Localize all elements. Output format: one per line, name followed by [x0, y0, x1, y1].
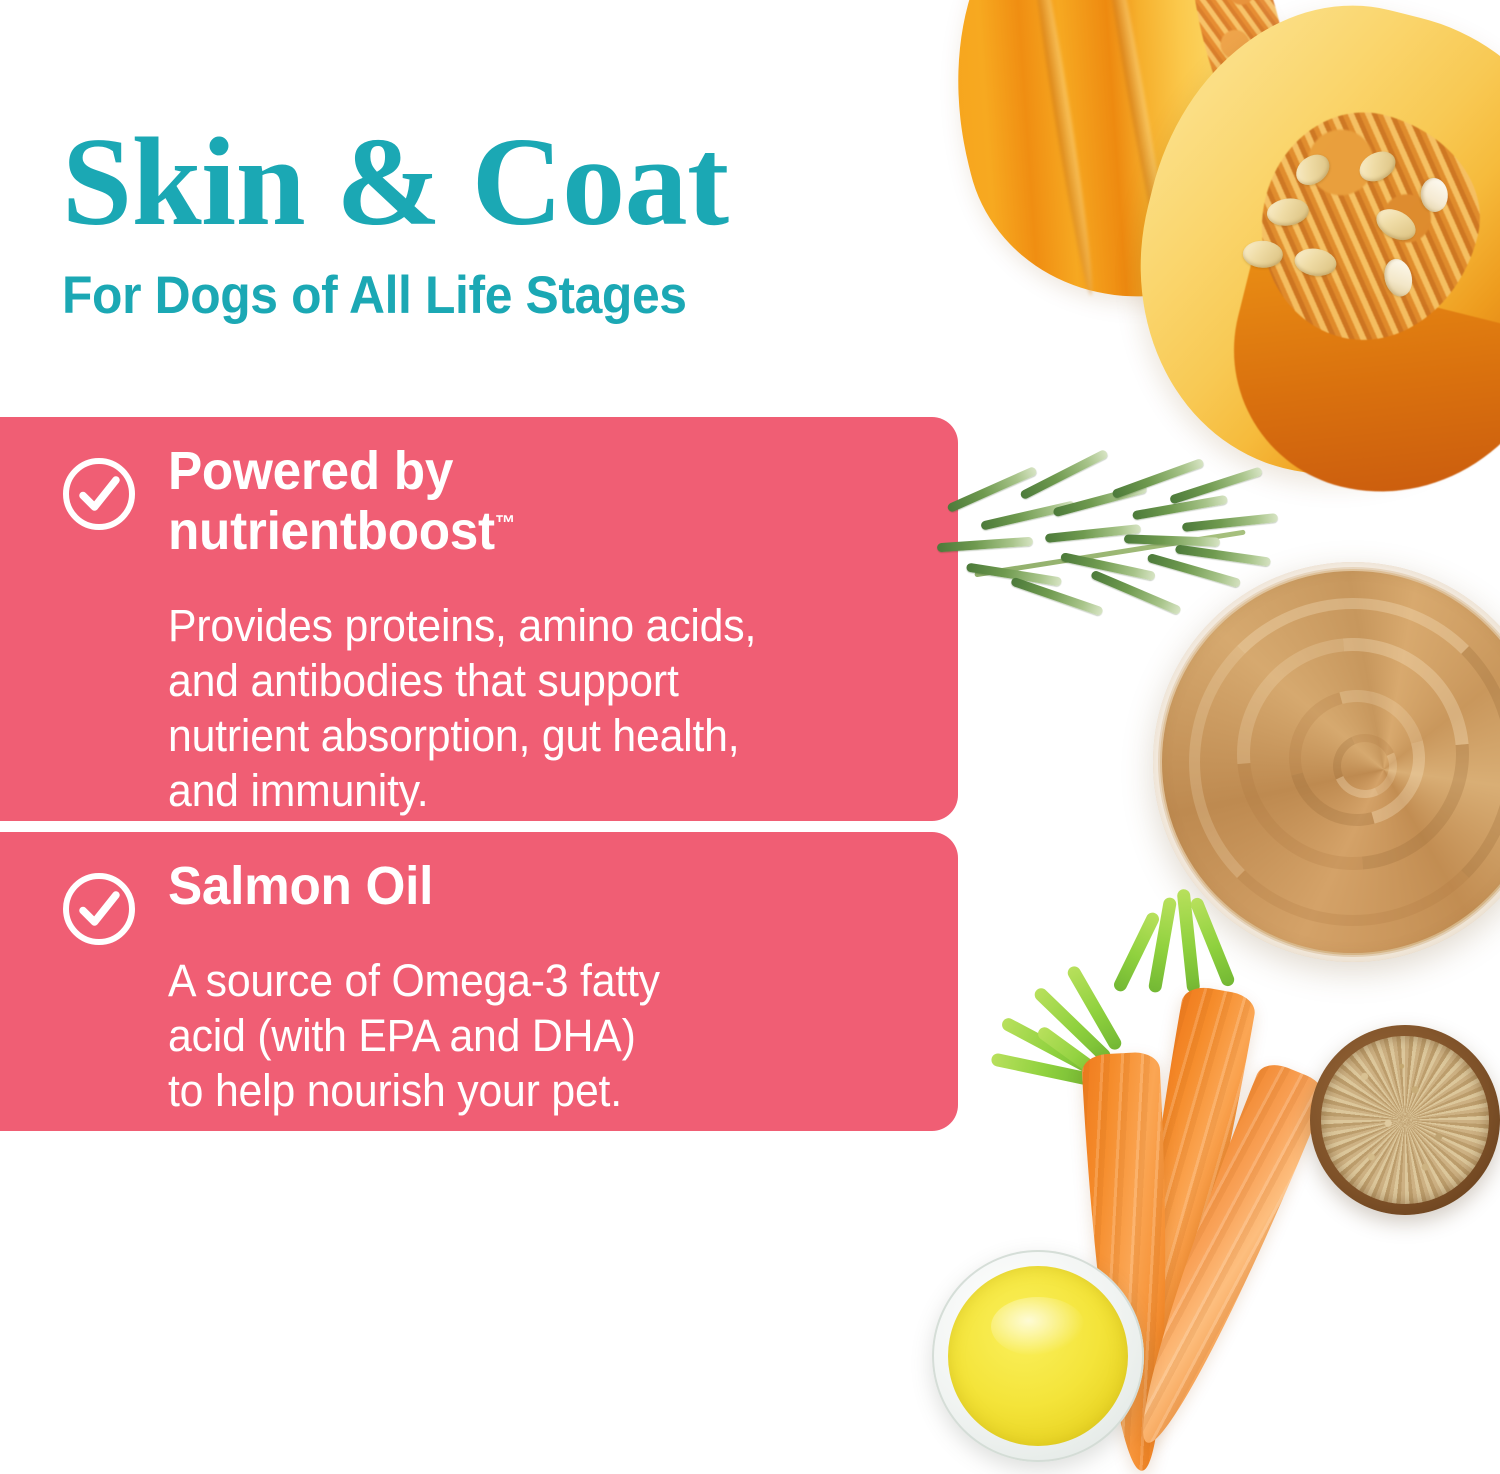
- rosemary-needle: [1182, 513, 1278, 532]
- benefit-heading-line1: Salmon Oil: [168, 856, 433, 916]
- oil-liquid: [948, 1266, 1128, 1446]
- carrot-stalk: [1148, 897, 1177, 994]
- oil-highlight: [991, 1297, 1084, 1356]
- oil-bowl-image: [932, 1250, 1144, 1462]
- heading-block: Skin & Coat For Dogs of All Life Stages: [62, 120, 962, 324]
- page-title: Skin & Coat: [62, 120, 962, 246]
- benefit-panel-content: Salmon Oil A source of Omega-3 fatty aci…: [60, 832, 928, 1131]
- check-circle-icon: [60, 870, 138, 948]
- rosemary-needle: [937, 537, 1033, 553]
- wooden-bowl-ground-meal-image: [1310, 1025, 1500, 1215]
- benefit-body-text: Provides proteins, amino acids, and anti…: [168, 599, 756, 819]
- check-circle-icon: [60, 455, 138, 533]
- benefit-heading-line2: nutrientboost: [168, 501, 495, 561]
- benefit-heading: Powered by nutrientboost™: [168, 441, 515, 562]
- benefit-heading-line1: Powered by: [168, 441, 453, 501]
- ground-meal-powder: [1321, 1036, 1489, 1204]
- product-feature-graphic: Skin & Coat For Dogs of All Life Stages …: [0, 0, 1500, 1474]
- page-subtitle: For Dogs of All Life Stages: [62, 268, 908, 324]
- benefit-panel-content: Powered by nutrientboost™ Provides prote…: [60, 417, 928, 821]
- benefit-body-text: A source of Omega-3 fatty acid (with EPA…: [168, 954, 660, 1119]
- trademark-symbol: ™: [495, 510, 516, 535]
- benefit-panel-nutrientboost: Powered by nutrientboost™ Provides prote…: [0, 417, 958, 821]
- benefit-heading: Salmon Oil: [168, 856, 433, 916]
- benefit-panel-salmon-oil: Salmon Oil A source of Omega-3 fatty aci…: [0, 832, 958, 1131]
